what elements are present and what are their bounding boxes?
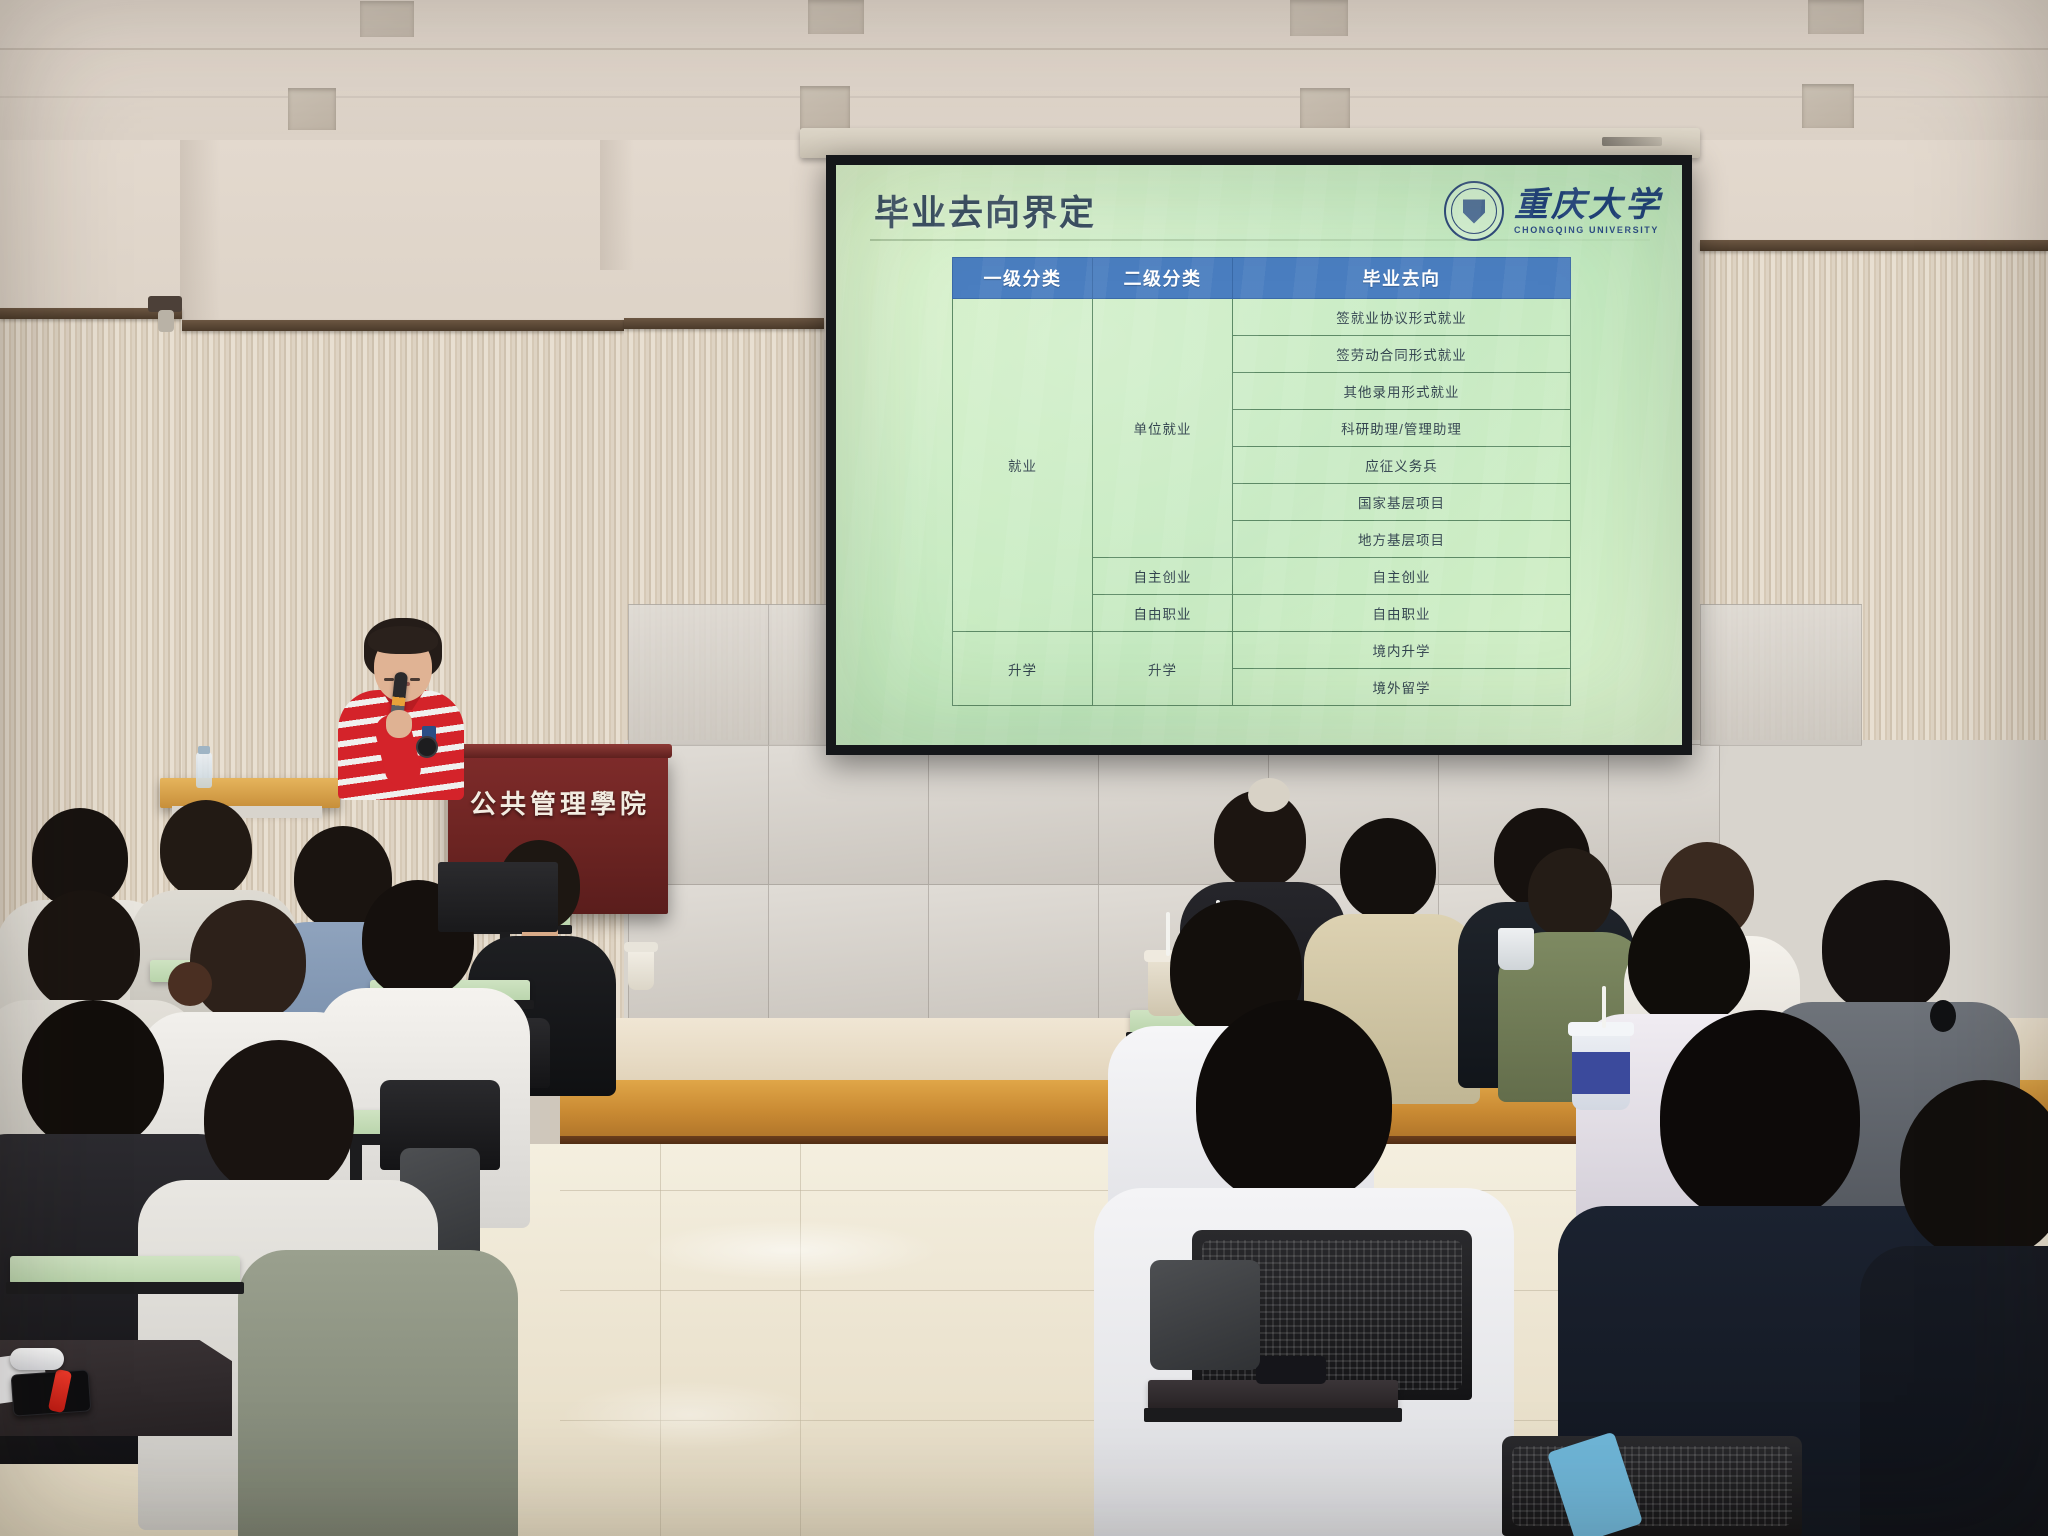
desk-edge xyxy=(6,1282,244,1294)
audience-member xyxy=(1890,1080,2048,1536)
wall-rail xyxy=(624,318,824,329)
hair-clip-icon xyxy=(1248,778,1290,812)
wall-panel xyxy=(628,604,770,746)
audience-member xyxy=(238,1190,478,1536)
bottle-cap xyxy=(198,746,210,754)
wall-rail xyxy=(1700,240,2048,251)
cell-level1-further-study: 升学 xyxy=(953,632,1093,706)
head xyxy=(1628,898,1750,1026)
cell-destination: 签就业协议形式就业 xyxy=(1233,299,1571,336)
col-header-level1: 一级分类 xyxy=(953,258,1093,299)
earbuds-case xyxy=(10,1348,64,1370)
cell-destination: 其他录用形式就业 xyxy=(1233,373,1571,410)
graduation-destination-table: 一级分类 二级分类 毕业去向 就业 单位就业 签就业协议形式就业 签劳 xyxy=(952,257,1571,706)
torso xyxy=(1860,1246,2048,1536)
logo-english-name: CHONGQING UNIVERSITY xyxy=(1514,226,1659,235)
cell-destination: 自由职业 xyxy=(1233,595,1571,632)
downlight-icon xyxy=(808,0,864,34)
wall-panel xyxy=(768,884,930,1026)
torso xyxy=(238,1250,518,1536)
smartphone xyxy=(1256,1356,1326,1384)
desk-tablet xyxy=(10,1256,240,1284)
table-header-row: 一级分类 二级分类 毕业去向 xyxy=(953,258,1571,299)
col-header-level2: 二级分类 xyxy=(1093,258,1233,299)
downlight-icon xyxy=(1802,84,1854,128)
brand-logo-icon xyxy=(1602,137,1662,146)
wall-panel xyxy=(1700,604,1862,746)
head xyxy=(28,890,140,1010)
table-row: 就业 单位就业 签就业协议形式就业 xyxy=(953,299,1571,336)
downlight-icon xyxy=(1808,0,1864,34)
lecture-hall-photo: 毕业去向界定 重庆大学 CHONGQING UNIVERSITY xyxy=(0,0,2048,1536)
downlight-icon xyxy=(800,86,850,130)
wall-panel xyxy=(768,744,930,886)
floor-tile-line xyxy=(660,1144,661,1536)
presenter-fringe xyxy=(368,626,438,654)
cell-destination: 签劳动合同形式就业 xyxy=(1233,336,1571,373)
head xyxy=(1340,818,1436,920)
presenter-eye xyxy=(384,678,394,681)
drink-cup xyxy=(1498,928,1534,970)
backpack xyxy=(1150,1260,1260,1370)
podium-sign: 公共管理學院 xyxy=(462,784,658,821)
head xyxy=(1900,1080,2048,1260)
head xyxy=(22,1000,164,1150)
head xyxy=(160,800,252,898)
wall-corner xyxy=(600,140,634,270)
cell-destination: 应征义务兵 xyxy=(1233,447,1571,484)
projection-screen: 毕业去向界定 重庆大学 CHONGQING UNIVERSITY xyxy=(826,155,1692,755)
cup-lid xyxy=(624,942,658,952)
floor-tile-line xyxy=(800,1144,801,1536)
seal-shield-icon xyxy=(1463,199,1485,223)
cell-destination: 自主创业 xyxy=(1233,558,1571,595)
head xyxy=(1822,880,1950,1014)
floor-reflection xyxy=(560,1380,820,1450)
chair-back[interactable] xyxy=(1502,1436,1802,1536)
earbud-icon xyxy=(1930,1000,1956,1032)
slide-title: 毕业去向界定 xyxy=(874,185,1096,236)
cell-destination: 地方基层项目 xyxy=(1233,521,1571,558)
cell-level2-freelance: 自由职业 xyxy=(1093,595,1233,632)
presentation-slide: 毕业去向界定 重庆大学 CHONGQING UNIVERSITY xyxy=(836,165,1682,745)
wall-panel xyxy=(928,744,1100,886)
cell-destination: 科研助理/管理助理 xyxy=(1233,410,1571,447)
security-camera-icon xyxy=(158,310,174,332)
cell-destination: 境内升学 xyxy=(1233,632,1571,669)
head xyxy=(1196,1000,1392,1206)
desk-edge xyxy=(1144,1408,1402,1422)
col-header-destination: 毕业去向 xyxy=(1233,258,1571,299)
wall-corner xyxy=(180,140,220,340)
graduation-destination-table-wrapper: 一级分类 二级分类 毕业去向 就业 单位就业 签就业协议形式就业 签劳 xyxy=(952,257,1570,706)
drink-cup xyxy=(628,948,654,990)
presenter-eye xyxy=(410,678,420,681)
downlight-icon xyxy=(1300,88,1350,132)
university-seal-icon xyxy=(1444,181,1504,241)
wall-panel xyxy=(928,884,1100,1026)
downlight-icon xyxy=(288,88,336,130)
podium-top xyxy=(440,744,672,758)
cell-level1-employment: 就业 xyxy=(953,299,1093,632)
presenter-hand xyxy=(386,710,412,738)
cell-level2-unit-employment: 单位就业 xyxy=(1093,299,1233,558)
floor-reflection xyxy=(640,1220,940,1280)
head xyxy=(204,1040,354,1196)
water-bottle xyxy=(196,752,212,788)
cell-level2-further-study: 升学 xyxy=(1093,632,1233,706)
wall-rail xyxy=(182,320,624,331)
wristwatch-icon xyxy=(416,736,438,758)
university-logo: 重庆大学 CHONGQING UNIVERSITY xyxy=(1444,181,1662,241)
downlight-icon xyxy=(1290,0,1348,36)
cell-level2-self-employment: 自主创业 xyxy=(1093,558,1233,595)
ceiling-seam xyxy=(0,48,2048,50)
desk-surface xyxy=(1148,1380,1398,1410)
logo-chinese-name: 重庆大学 xyxy=(1514,188,1662,222)
table-row: 升学 升学 境内升学 xyxy=(953,632,1571,669)
projector-screen-case xyxy=(800,128,1700,158)
presenter xyxy=(330,618,470,788)
head xyxy=(1660,1010,1860,1224)
cell-destination: 境外留学 xyxy=(1233,669,1571,706)
cell-destination: 国家基层项目 xyxy=(1233,484,1571,521)
laptop-screen xyxy=(438,862,558,932)
downlight-icon xyxy=(360,1,414,37)
